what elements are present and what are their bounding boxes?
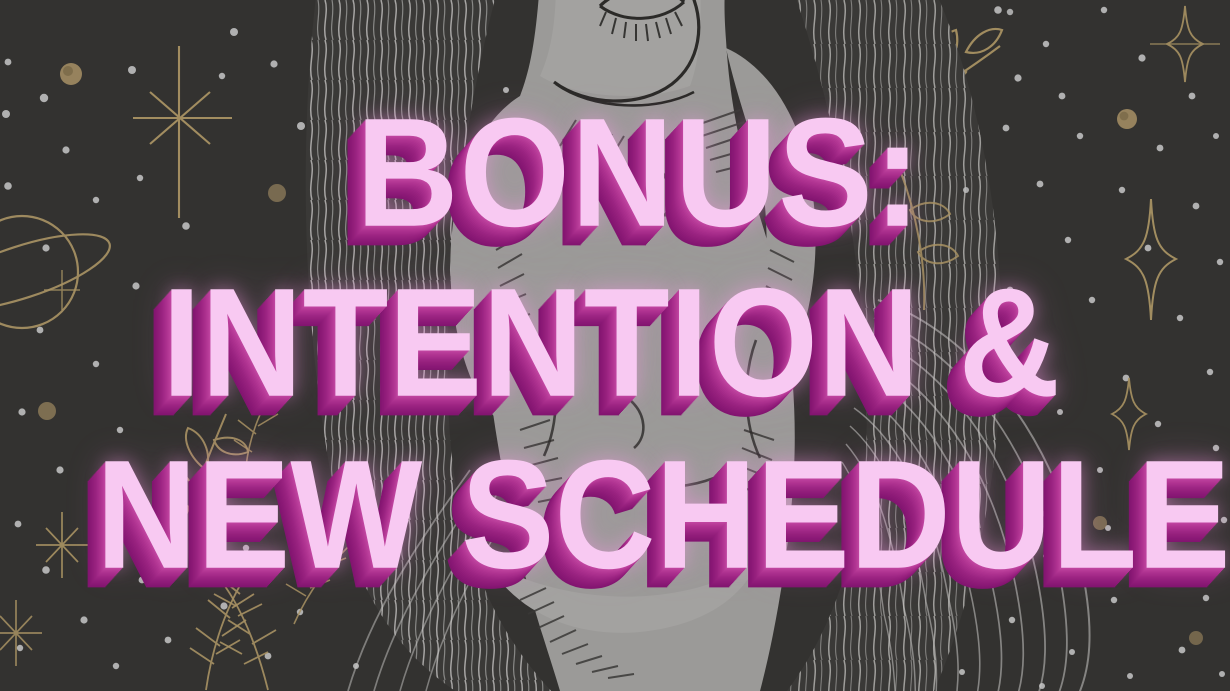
title-line-schedule: NEW SCHEDULE <box>96 438 1230 593</box>
title-line-bonus: BONUS: <box>356 96 922 251</box>
title-line-intention: INTENTION & <box>162 266 1060 421</box>
title-card: BONUS: INTENTION & NEW SCHEDULE <box>0 0 1230 691</box>
title-text-block: BONUS: INTENTION & NEW SCHEDULE <box>0 0 1230 691</box>
